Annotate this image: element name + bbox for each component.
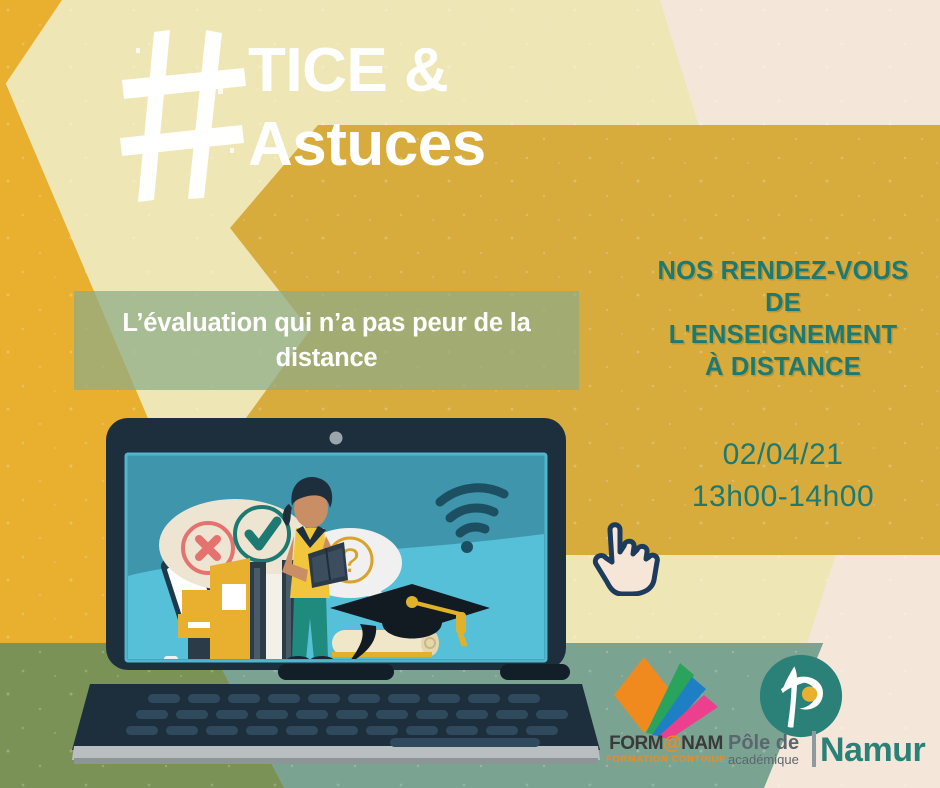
pole-divider (812, 731, 816, 767)
pole-line1: Pôle de (728, 733, 799, 753)
laptop-illustration: ? (60, 408, 600, 788)
formanam-at: @ (663, 733, 681, 754)
logo-row: FORM@NAM FORMATION CONTINUE Pôle de acad… (588, 655, 936, 779)
pole-line2: académique (728, 753, 799, 767)
pointing-hand-cursor (584, 506, 664, 596)
book-diamond-icon (596, 655, 736, 739)
pole-circle-icon (758, 653, 844, 739)
poster-title: TICE & Astuces (248, 34, 668, 182)
rendezvous-line-2: DE (636, 287, 930, 319)
poster-canvas: TICE & Astuces L’évaluation qui n’a pas … (0, 0, 940, 788)
pole-academique-logo: Pôle de académique Namur (728, 657, 936, 777)
pole-city: Namur (820, 731, 925, 769)
rendezvous-heading: NOS RENDEZ-VOUS DE L'ENSEIGNEMENT À DIST… (636, 255, 930, 383)
subtitle-text: L’évaluation qui n’a pas peur de la dist… (101, 306, 553, 376)
event-date: 02/04/21 (636, 434, 930, 476)
title-line-1: TICE & (248, 34, 668, 108)
title-line-2: Astuces (248, 108, 668, 182)
wifi-dot (461, 541, 473, 553)
hash-icon (118, 28, 248, 203)
formanam-tagline: FORMATION CONTINUE (596, 754, 736, 765)
subtitle-banner: L’évaluation qui n’a pas peur de la dist… (74, 291, 579, 390)
formanam-logo: FORM@NAM FORMATION CONTINUE (596, 655, 736, 775)
formanam-prefix: FORM (609, 733, 663, 754)
rendezvous-line-4: À DISTANCE (636, 351, 930, 383)
rendezvous-line-1: NOS RENDEZ-VOUS (636, 255, 930, 287)
rendezvous-line-3: L'ENSEIGNEMENT (636, 319, 930, 351)
event-time: 13h00-14h00 (636, 476, 930, 518)
formanam-wordmark: FORM@NAM (596, 733, 736, 755)
event-when: 02/04/21 13h00-14h00 (636, 434, 930, 518)
formanam-suffix: NAM (681, 733, 723, 754)
